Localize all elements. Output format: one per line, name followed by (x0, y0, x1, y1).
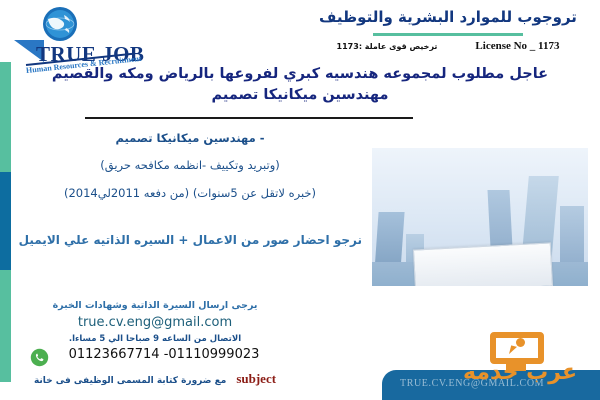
header-separator (373, 33, 523, 36)
job-details-block: - مهندسين ميكانيكا تصميم (وتبريد وتكييف … (30, 132, 350, 200)
site-watermark: عرب خدمه (460, 332, 580, 394)
engineers-photo (372, 148, 588, 286)
header-title: تروجوب للموارد البشرية والتوظيف (314, 8, 582, 28)
contact-block: يرجى ارسال السيرة الذاتية وشهادات الخبرة… (20, 300, 290, 387)
contact-heading: يرجى ارسال السيرة الذاتية وشهادات الخبرة (20, 300, 290, 311)
contact-phone-row: 01123667714 -01110999023 (20, 347, 290, 369)
watermark-text: عرب خدمه (460, 360, 580, 385)
call-to-action-text: نرجو احضار صور من الاعمال + السيره الذات… (32, 233, 362, 247)
left-stripe-middle (0, 172, 11, 270)
subject-note-arabic: مع ضرورة كتابة المسمى الوظيفى فى خانة (34, 376, 226, 386)
job-detail-line-3: (خبره لاتقل عن 5سنوات) (من دفعه 2011لي20… (30, 187, 350, 200)
contact-hours: الاتصال من الساعه 9 صباحا الي 5 مساءا. (20, 334, 290, 344)
job-detail-line-2: (وتبريد وتكييف -انظمه مكافحه حريق) (30, 159, 350, 172)
license-row: ترخيص قوى عاملة :1173 License No _ 1173 (314, 40, 582, 52)
job-detail-line-1: - مهندسين ميكانيكا تصميم (30, 132, 350, 145)
blueprint-sheet (413, 242, 553, 286)
headline-line-2: مهندسين ميكانيكا تصميم (0, 85, 600, 106)
job-advertisement-poster: TRUE JOB Human Resources & Recruitment ت… (0, 0, 600, 400)
monitor-dot (516, 338, 525, 347)
headline-line-1: عاجل مطلوب لمجموعه هندسيه كبري لفروعها ب… (0, 64, 600, 85)
globe-icon (42, 6, 78, 42)
license-english: License No _ 1173 (475, 40, 559, 52)
contact-phone-numbers[interactable]: 01123667714 -01110999023 (20, 347, 290, 362)
subject-keyword: subject (236, 371, 276, 387)
license-arabic: ترخيص قوى عاملة :1173 (337, 42, 438, 51)
subject-note-row: subject مع ضرورة كتابة المسمى الوظيفى فى… (20, 371, 290, 387)
headline-divider (85, 117, 413, 119)
contact-email[interactable]: true.cv.eng@gmail.com (20, 315, 290, 330)
whatsapp-icon[interactable] (30, 348, 49, 367)
headline-block: عاجل مطلوب لمجموعه هندسيه كبري لفروعها ب… (0, 64, 600, 106)
header-block: تروجوب للموارد البشرية والتوظيف ترخيص قو… (314, 8, 582, 52)
left-stripe-bottom (0, 270, 11, 382)
